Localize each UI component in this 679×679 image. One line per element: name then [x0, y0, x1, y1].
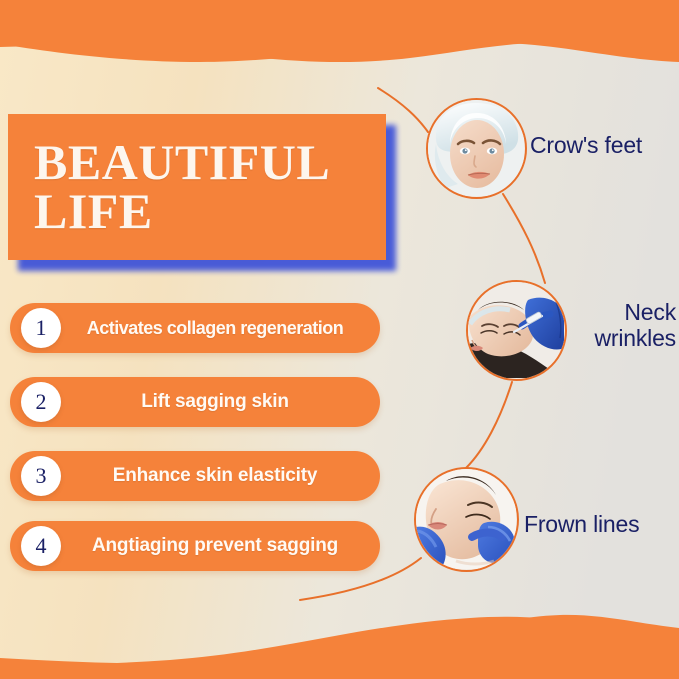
benefit-item-3[interactable]: 3 Enhance skin elasticity	[10, 451, 380, 501]
benefit-number-badge-2: 2	[21, 382, 61, 422]
benefit-item-4[interactable]: 4 Angtiaging prevent sagging	[10, 521, 380, 571]
benefit-number-4: 4	[36, 533, 47, 559]
benefit-number-badge-1: 1	[21, 308, 61, 348]
benefit-label-1: Activates collagen regeneration	[10, 318, 380, 339]
beauty-infographic-poster: BEAUTIFULLIFE 1 Activates collagen regen…	[0, 0, 679, 679]
benefit-number-3: 3	[36, 463, 47, 489]
connector-path-low	[466, 382, 512, 468]
benefit-number-badge-3: 3	[21, 456, 61, 496]
benefit-item-2[interactable]: 2 Lift sagging skin	[10, 377, 380, 427]
top-wave-shape	[0, 0, 679, 62]
benefit-number-2: 2	[36, 389, 47, 415]
title-orange-panel: BEAUTIFULLIFE	[8, 114, 386, 260]
connector-path-mid	[503, 194, 545, 283]
benefit-number-1: 1	[36, 315, 47, 341]
title-block: BEAUTIFULLIFE	[8, 114, 386, 260]
face-massage-gloves-photo	[416, 469, 516, 569]
bottom-wave-precise	[0, 615, 679, 679]
callout-photo-crows-feet[interactable]	[426, 98, 527, 199]
benefit-number-badge-4: 4	[21, 526, 61, 566]
callout-label-frown-lines: Frown lines	[524, 512, 679, 538]
benefit-label-3: Enhance skin elasticity	[10, 465, 380, 487]
top-wave-precise	[0, 0, 679, 62]
neck-injection-photo	[468, 282, 564, 378]
title-line-2: LIFE	[34, 183, 153, 239]
callout-label-crows-feet: Crow's feet	[530, 133, 675, 159]
title-line-1: BEAUTIFUL	[34, 134, 330, 190]
benefit-label-4: Angtiaging prevent sagging	[10, 535, 380, 557]
benefit-label-2: Lift sagging skin	[10, 391, 380, 413]
woman-face-headband-photo	[428, 100, 524, 196]
benefit-item-1[interactable]: 1 Activates collagen regeneration	[10, 303, 380, 353]
callout-label-neck-wrinkles: Neck wrinkles	[560, 300, 676, 352]
page-title: BEAUTIFULLIFE	[8, 138, 330, 237]
callout-photo-neck-wrinkles[interactable]	[466, 280, 567, 381]
callout-photo-frown-lines[interactable]	[414, 467, 519, 572]
bottom-wave-shape	[0, 617, 679, 679]
